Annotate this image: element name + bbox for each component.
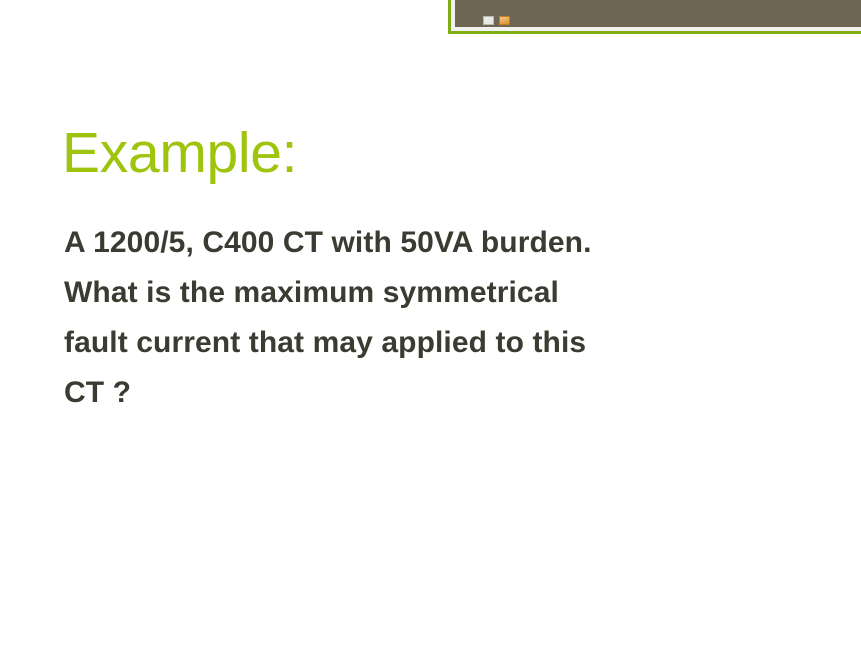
body-line: A 1200/5, C400 CT with 50VA burden.: [64, 218, 824, 268]
document-thumbnail-icon: [483, 16, 494, 25]
body-line: fault current that may applied to this: [64, 318, 824, 368]
ornament-icon-row: [483, 16, 510, 25]
header-ornament: [448, 0, 861, 34]
header-ornament-inner-bar: [455, 0, 861, 27]
body-line: What is the maximum symmetrical: [64, 268, 824, 318]
slide-body: A 1200/5, C400 CT with 50VA burden. What…: [64, 218, 824, 418]
slide-canvas: Example: A 1200/5, C400 CT with 50VA bur…: [0, 0, 861, 645]
slide-title: Example:: [62, 124, 297, 184]
body-line: CT ?: [64, 368, 824, 418]
image-thumbnail-icon: [499, 16, 510, 25]
